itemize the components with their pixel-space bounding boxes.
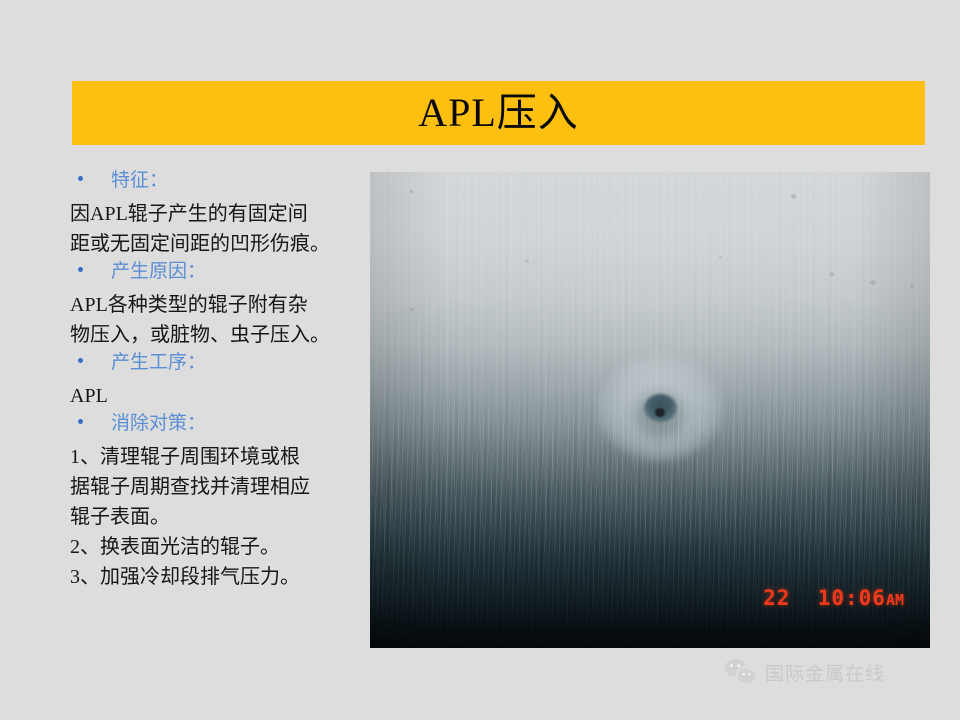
content-column: 特征： 因APL辊子产生的有固定间 距或无固定间距的凹形伤痕。 产生原因： AP… [70, 168, 362, 592]
bullet-heading-process: 产生工序： [70, 350, 362, 380]
body-line: 2、换表面光洁的辊子。 [70, 532, 362, 562]
timestamp-date: 22 [763, 586, 790, 610]
body-line: 距或无固定间距的凹形伤痕。 [70, 229, 362, 259]
bullet-dot-icon [78, 267, 83, 272]
watermark-label: 国际金属在线 [765, 659, 885, 686]
body-line: 据辊子周期查找并清理相应 [70, 472, 362, 502]
watermark: 国际金属在线 [724, 658, 885, 686]
bullet-label: 特征： [111, 168, 168, 194]
bullet-dot-icon [78, 176, 83, 181]
wechat-icon [724, 658, 756, 686]
page-title: APL压入 [418, 93, 579, 133]
bullet-heading-countermeasure: 消除对策： [70, 411, 362, 441]
defect-photo: 22 10:06AM [370, 172, 930, 648]
timestamp-ampm: AM [886, 591, 904, 609]
camera-timestamp: 22 10:06AM [763, 586, 904, 610]
body-line: 辊子表面。 [70, 502, 362, 532]
body-line: 3、加强冷却段排气压力。 [70, 562, 362, 592]
bullet-heading-feature: 特征： [70, 168, 362, 198]
body-line: 因APL辊子产生的有固定间 [70, 199, 362, 229]
bullet-label: 消除对策： [111, 411, 206, 437]
bullet-dot-icon [78, 358, 83, 363]
bullet-label: 产生原因： [111, 259, 206, 285]
title-banner: APL压入 [72, 81, 925, 145]
body-line: 1、清理辊子周围环境或根 [70, 442, 362, 472]
slide-canvas: APL压入 特征： 因APL辊子产生的有固定间 距或无固定间距的凹形伤痕。 产生… [0, 0, 960, 720]
body-line: 物压入，或脏物、虫子压入。 [70, 320, 362, 350]
timestamp-time: 10:06 [818, 586, 886, 610]
photo-vignette [370, 172, 930, 648]
body-line: APL [70, 381, 362, 411]
bullet-label: 产生工序： [111, 350, 206, 376]
bullet-dot-icon [78, 419, 83, 424]
bullet-heading-cause: 产生原因： [70, 259, 362, 289]
body-line: APL各种类型的辊子附有杂 [70, 290, 362, 320]
